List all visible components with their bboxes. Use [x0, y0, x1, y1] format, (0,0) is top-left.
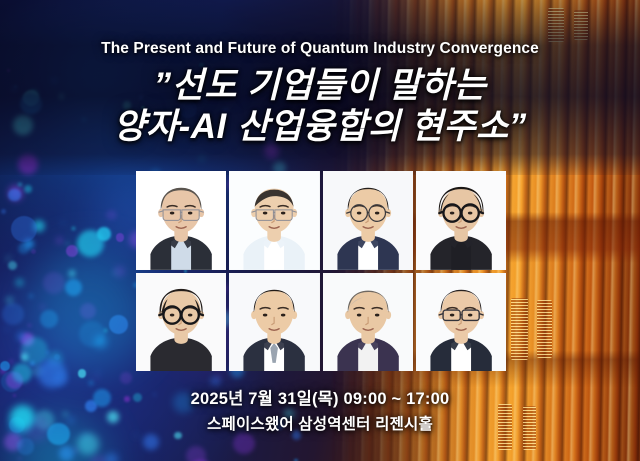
bokeh-dot: [11, 216, 37, 242]
bokeh-dot: [7, 297, 13, 303]
bokeh-dot: [21, 353, 28, 360]
bokeh-dot: [21, 350, 25, 354]
bokeh-dot: [7, 257, 10, 260]
bokeh-dot: [8, 189, 21, 202]
speaker-photo-3: [323, 171, 413, 270]
poster-title-line-1: ”선도 기업들이 말하는: [0, 66, 640, 107]
speaker-photo-6: [229, 273, 319, 372]
gold-coil-icon: [511, 298, 528, 360]
bokeh-dot: [105, 453, 118, 461]
event-venue: 스페이스왰어 삼성역센터 리젠시홀: [0, 412, 640, 434]
bokeh-dot: [2, 303, 24, 325]
bokeh-dot: [56, 237, 63, 244]
speaker-photo-grid: [136, 171, 506, 371]
bokeh-dot: [18, 183, 22, 187]
bokeh-dot: [24, 185, 32, 193]
bokeh-dot: [5, 327, 9, 331]
bokeh-dot: [1, 209, 6, 214]
gold-coil-icon: [537, 300, 552, 358]
bokeh-dot: [217, 375, 220, 378]
event-date-time: 2025년 7월 31일(목) 09:00 ~ 17:00: [0, 385, 640, 409]
poster-title: ”선도 기업들이 말하는 양자-AI 산업융합의 현주소”: [0, 66, 640, 147]
speaker-photo-7: [323, 273, 413, 372]
poster-subtitle-english: The Present and Future of Quantum Indust…: [0, 40, 640, 58]
close-quote-mark: ”: [509, 107, 527, 146]
speaker-photo-1: [136, 171, 226, 270]
event-details: 2025년 7월 31일(목) 09:00 ~ 17:00 스페이스왰어 삼성역…: [0, 385, 640, 434]
poster-title-line-2: 양자-AI 산업융합의 현주소”: [0, 107, 640, 148]
speaker-photo-8: [416, 273, 506, 372]
speaker-photo-5: [136, 273, 226, 372]
bokeh-dot: [8, 261, 17, 270]
bokeh-dot: [66, 242, 69, 245]
poster-title-line-2-text: 양자-AI 산업융합의 현주소: [113, 107, 509, 146]
open-quote-mark: ”: [154, 66, 172, 105]
speaker-photo-2: [229, 171, 319, 270]
bokeh-glow: [30, 250, 150, 370]
bokeh-dot: [31, 249, 36, 254]
bokeh-dot: [17, 332, 26, 341]
poster-title-line-1-text: 선도 기업들이 말하는: [172, 66, 487, 105]
speaker-photo-4: [416, 171, 506, 270]
bokeh-dot: [72, 227, 75, 230]
event-poster: The Present and Future of Quantum Indust…: [0, 0, 640, 461]
bokeh-dot: [233, 433, 255, 455]
